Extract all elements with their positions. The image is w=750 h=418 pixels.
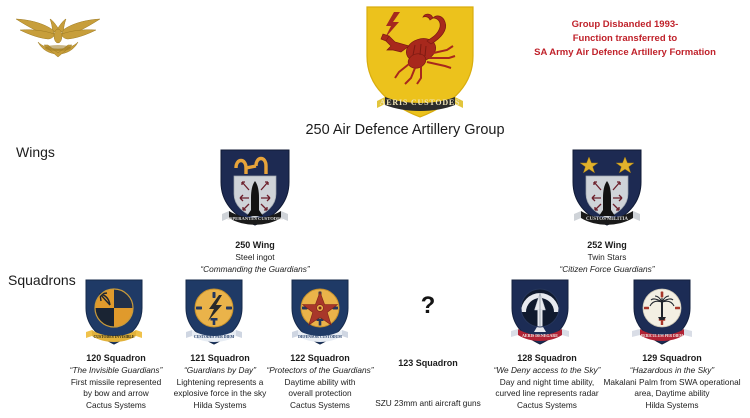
disbanded-note-line2: Function transferred to [520,32,730,46]
squadron-128-badge-motto: AERIS DENEGARE [522,333,558,338]
wing-250-badge: INPERANTES CUSTODES [216,148,294,232]
squadron-120-badge-motto: CUSTODES INVISIBLE [94,335,135,339]
wing-250-caption: 250 Wing Steel ingot “Commanding the Gua… [180,240,330,275]
squadron-129-desc1: Makalani Palm from SWA operational [596,377,748,388]
disbanded-note-line1: Group Disbanded 1993- [520,18,730,32]
wing-250-badge-motto: INPERANTES CUSTODES [227,216,283,221]
squadron-122-badge: DEFENSOR CUSTODUM [288,278,352,350]
squadron-122-badge-motto: DEFENSOR CUSTODUM [298,335,342,339]
squadron-129-desc2: area, Daytime ability [596,388,748,399]
wing-250-motto: “Commanding the Guardians” [180,264,330,275]
squadron-120-badge: CUSTODES INVISIBLE [82,278,146,350]
squadron-120-motto: “The Invisible Guardians” [62,365,170,376]
wing-252-name: 252 Wing [532,240,682,251]
squadron-123-desc2: SZU 23mm anti aircraft guns [368,398,488,409]
squadron-123-name-wrap: 123 Squadron [378,358,478,370]
disbanded-note: Group Disbanded 1993- Function transferr… [520,18,730,60]
squadron-128-desc2: curved line represents radar [482,388,612,399]
saaf-eagle-icon [8,12,108,62]
squadron-122-desc3: Cactus Systems [256,400,384,411]
squadron-129-caption: 129 Squadron “Hazardous in the Sky” Maka… [596,353,748,411]
wing-250-subtitle: Steel ingot [180,252,330,263]
org-chart-canvas: AERIS CUSTODES Group Disbanded 1993- Fun… [0,0,750,418]
squadron-128-desc3: Cactus Systems [482,400,612,411]
squadron-122-desc1: Daytime ability with [256,377,384,388]
row-label-squadrons: Squadrons [8,272,76,288]
squadron-120-caption: 120 Squadron “The Invisible Guardians” F… [62,353,170,411]
squadron-122-motto: “Protectors of the Guardians” [256,365,384,376]
squadron-129-badge-motto: PERICULUM PER DIEM [641,334,684,338]
squadron-128-motto: “We Deny access to the Sky” [482,365,612,376]
squadron-120-desc3: Cactus Systems [62,400,170,411]
row-label-wings: Wings [16,144,55,160]
wing-250-name: 250 Wing [180,240,330,251]
squadron-120-desc2: by bow and arrow [62,388,170,399]
wing-252-caption: 252 Wing Twin Stars “Citizen Force Guard… [532,240,682,275]
squadron-128-caption: 128 Squadron “We Deny access to the Sky”… [482,353,612,411]
squadron-120-name: 120 Squadron [62,353,170,364]
squadron-122-desc2: overall protection [256,388,384,399]
squadron-129-badge: PERICULUM PER DIEM [630,278,694,350]
group-badge-motto: AERIS CUSTODES [380,98,461,107]
squadron-129-name: 129 Squadron [596,353,748,364]
wing-252-motto: “Citizen Force Guardians” [532,264,682,275]
wing-252-badge-motto: CUSTOS MILITIA [586,217,628,222]
squadron-121-badge-motto: CUSTODES PER DIEM [194,335,235,339]
squadron-128-name: 128 Squadron [482,353,612,364]
squadron-129-motto: “Hazardous in the Sky” [596,365,748,376]
squadron-120-desc1: First missile represented [62,377,170,388]
squadron-121-badge: CUSTODES PER DIEM [182,278,246,350]
squadron-128-desc1: Day and night time ability, [482,377,612,388]
squadron-123-desc-wrap: SZU 23mm anti aircraft guns [368,398,488,409]
squadron-122-caption: 122 Squadron “Protectors of the Guardian… [256,353,384,411]
page-title: 250 Air Defence Artillery Group [255,122,555,138]
group-emblem: AERIS CUSTODES [355,4,485,122]
question-mark-icon: ? [408,292,448,320]
squadron-123-name: 123 Squadron [378,358,478,369]
squadron-128-badge: AERIS DENEGARE [508,278,572,350]
wing-252-subtitle: Twin Stars [532,252,682,263]
squadron-122-name: 122 Squadron [256,353,384,364]
squadron-129-desc3: Hilda Systems [596,400,748,411]
disbanded-note-line3: SA Army Air Defence Artillery Formation [520,46,730,60]
motto-banner: AERIS CUSTODES [377,97,463,111]
wing-252-badge: CUSTOS MILITIA [568,148,646,232]
